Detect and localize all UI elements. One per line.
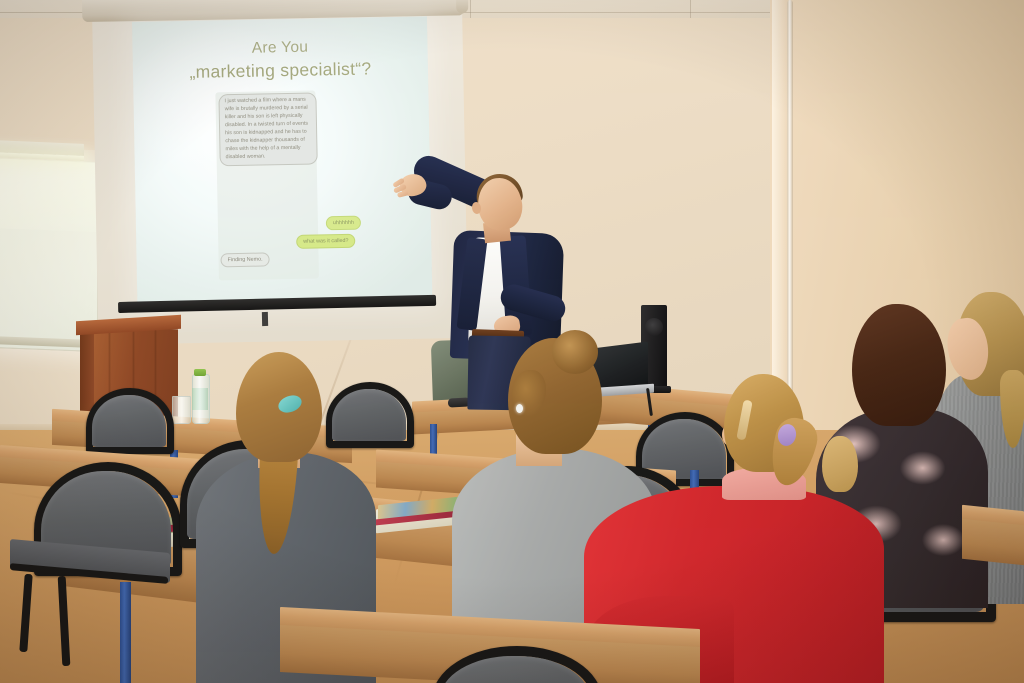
drinking-glass (172, 396, 191, 424)
projector-screen: Are You „marketing specialist“? I just w… (132, 16, 432, 307)
chat-bubble-incoming: I just watched a film where a mans wife … (218, 92, 317, 165)
attendee-partial-head (822, 436, 858, 492)
slide-title-line-1: Are You (132, 36, 427, 60)
desk-front-left-leg-a (120, 582, 131, 683)
chat-bubble-uhhhhhh: uhhhhhh (326, 216, 361, 231)
water-bottle-cap (194, 369, 206, 376)
slide-title-line-2: „marketing specialist“? (133, 57, 428, 84)
student-bun-earring (516, 404, 523, 413)
attendee-patterned-top-hair (852, 304, 946, 426)
speaker-cone-icon (645, 318, 663, 336)
desk-far-right-front (962, 519, 1024, 566)
whiteboard-glare (0, 158, 96, 232)
student-bun-knot (552, 330, 598, 374)
chat-bubble-finding-nemo: Finding Nemo. (220, 252, 269, 267)
water-bottle-label (192, 388, 208, 410)
chat-bubble-what-was-it-called: what was it called? (296, 234, 356, 249)
classroom-photo: Are You „marketing specialist“? I just w… (0, 0, 1024, 683)
screen-pull-tab (262, 312, 268, 326)
